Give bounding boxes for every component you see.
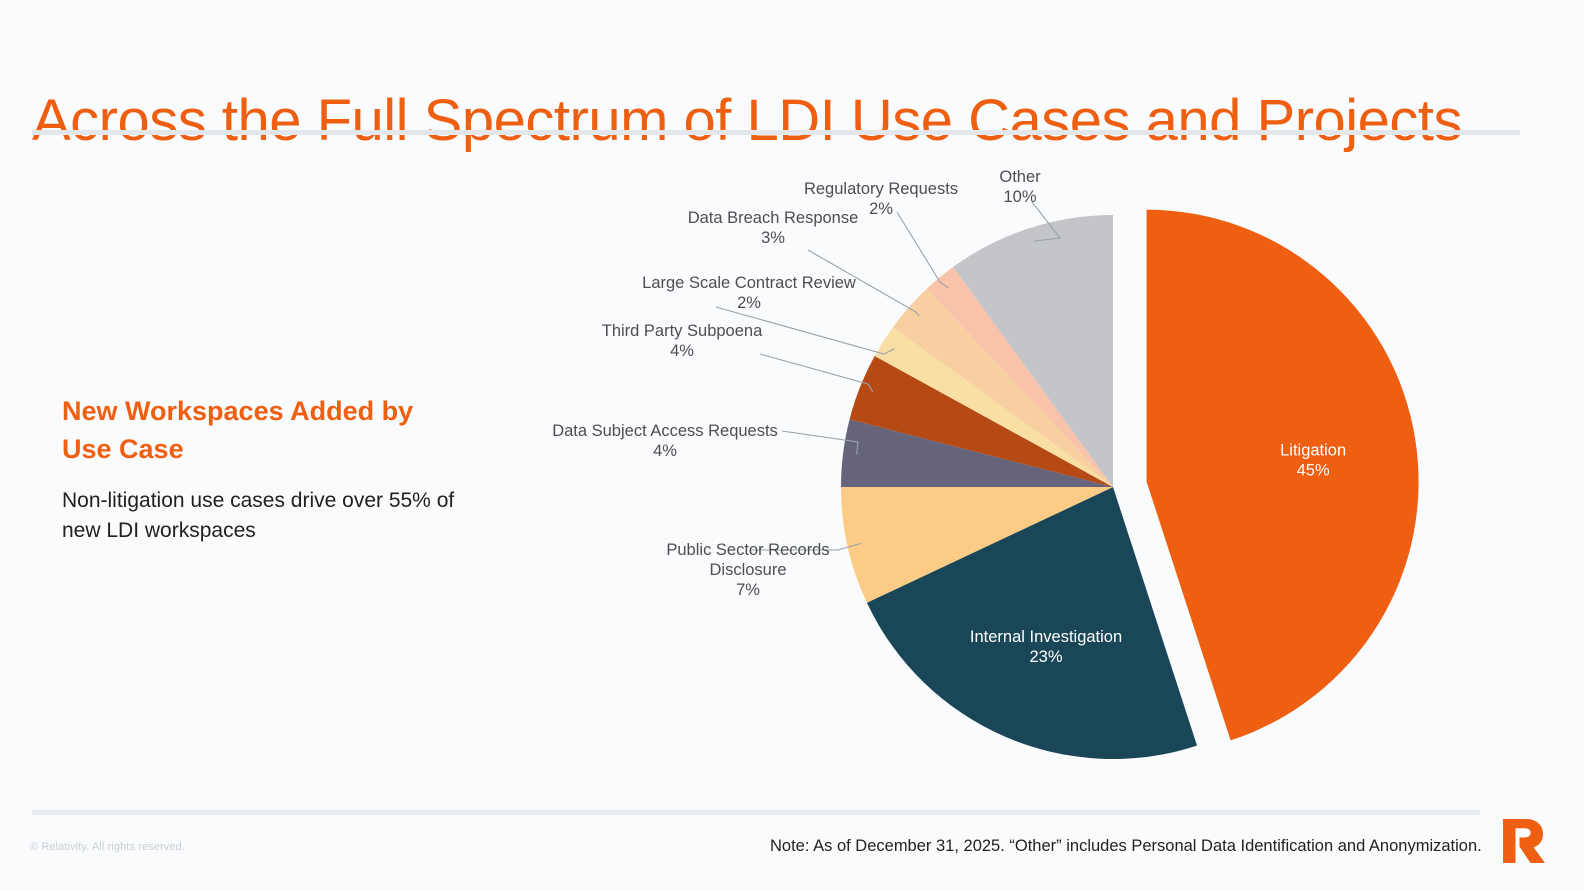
pie-chart-svg: Litigation45%Internal Investigation23%Pu… xyxy=(520,150,1480,810)
leader-line-regulatory-requests xyxy=(897,212,948,288)
header-divider xyxy=(32,130,1520,135)
pie-chart: Litigation45%Internal Investigation23%Pu… xyxy=(520,150,1480,810)
pie-label-other: Other10% xyxy=(999,168,1041,206)
pie-slices xyxy=(841,210,1419,759)
lead-heading: New Workspaces Added by Use Case xyxy=(62,392,462,469)
pie-label-third-party-subpoena: Third Party Subpoena4% xyxy=(602,322,763,360)
leader-line-third-party-subpoena xyxy=(760,354,873,392)
copyright-text: © Relativity. All rights reserved. xyxy=(30,841,185,853)
page-title: Across the Full Spectrum of LDI Use Case… xyxy=(32,91,1462,152)
footnote-text: Note: As of December 31, 2025. “Other” i… xyxy=(770,837,1482,856)
pie-label-data-subject-access-requests: Data Subject Access Requests4% xyxy=(552,422,778,460)
lead-body-text: Non-litigation use cases drive over 55% … xyxy=(62,486,472,547)
pie-label-data-breach-response: Data Breach Response3% xyxy=(688,209,859,247)
pie-label-public-sector-records-disclosure: Public Sector RecordsDisclosure7% xyxy=(666,541,829,599)
footer-divider xyxy=(32,810,1480,815)
pie-label-large-scale-contract-review: Large Scale Contract Review2% xyxy=(642,274,856,312)
pie-slice-litigation[interactable] xyxy=(1147,210,1419,741)
slide: Across the Full Spectrum of LDI Use Case… xyxy=(0,0,1584,891)
relativity-r-logo xyxy=(1499,817,1549,865)
